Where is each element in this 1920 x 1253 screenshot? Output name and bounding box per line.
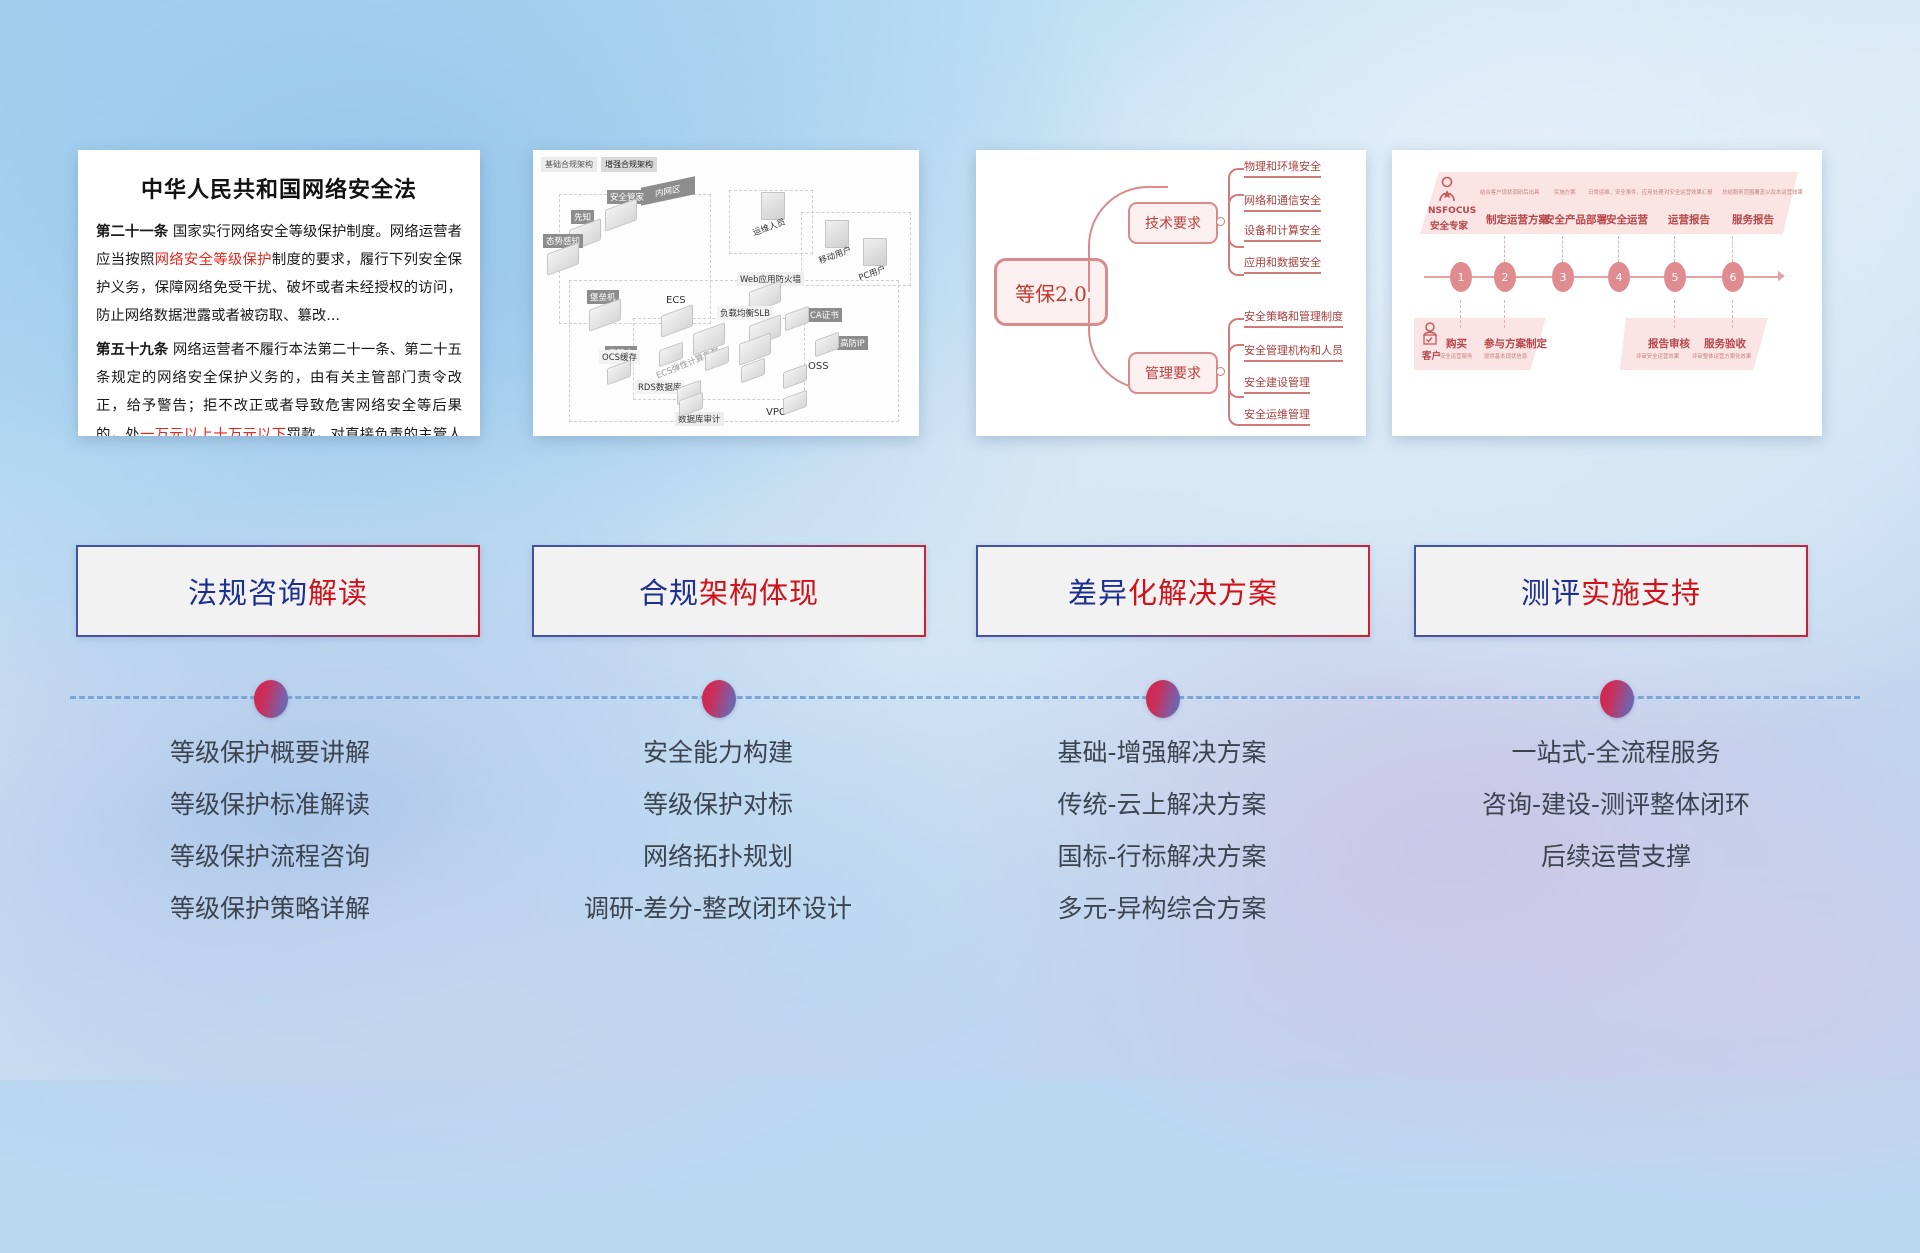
detail-column-4: 一站式-全流程服务 咨询-建设-测评整体闭环 后续运营支撑 bbox=[1406, 740, 1826, 896]
list-item: 一站式-全流程服务 bbox=[1406, 740, 1826, 765]
article-21-highlight: 网络安全等级保护 bbox=[155, 252, 272, 268]
detail-list-row: 等级保护概要讲解 等级保护标准解读 等级保护流程咨询 等级保护策略详解 安全能力… bbox=[0, 740, 1920, 980]
law-card-body: 第二十一条 国家实行网络安全等级保护制度。网络运营者应当按照网络安全等级保护制度… bbox=[78, 218, 480, 436]
timeline bbox=[0, 670, 1920, 730]
roadmap-step-5-sub: 对安全运营效果汇报 bbox=[1664, 188, 1713, 196]
roadmap-step-6-title: 服务报告 bbox=[1732, 212, 1774, 227]
roadmap-stem-6a bbox=[1732, 236, 1733, 262]
mindmap-leaf-m2: 安全管理机构和人员 bbox=[1244, 342, 1343, 362]
roadmap-stem-1 bbox=[1460, 300, 1461, 328]
roadmap-node-2: 2 bbox=[1494, 262, 1516, 292]
roadmap-step-4-sub: 日常运维、安全事件、应用处理 bbox=[1588, 188, 1663, 196]
architecture-tab-basic[interactable]: 基础合规架构 bbox=[541, 157, 597, 172]
list-item: 调研-差分-整改闭环设计 bbox=[508, 896, 928, 921]
roadmap-customer-step-2-title: 参与方案制定 bbox=[1484, 336, 1547, 351]
roadmap-step-4-title: 安全运营 bbox=[1606, 212, 1648, 227]
mindmap-leaf-t1: 物理和环境安全 bbox=[1244, 158, 1321, 178]
image-card-row: 中华人民共和国网络安全法 第二十一条 国家实行网络安全等级保护制度。网络运营者应… bbox=[0, 150, 1920, 440]
roadmap-card: NSFOCUS 安全专家 结合客户现状调研后出具 制定运营方案 实施方案 安全产… bbox=[1392, 150, 1822, 436]
roadmap-node-1: 1 bbox=[1450, 262, 1472, 292]
timeline-dot-2[interactable] bbox=[702, 680, 736, 718]
list-item: 等级保护流程咨询 bbox=[60, 844, 480, 869]
mindmap-leaf-t2: 网络和通信安全 bbox=[1244, 192, 1321, 212]
roadmap-step-3-title: 安全产品部署 bbox=[1544, 212, 1607, 227]
roadmap-axis-arrow-icon bbox=[1778, 271, 1785, 281]
roadmap-node-4: 4 bbox=[1608, 262, 1630, 292]
detail-column-2: 安全能力构建 等级保护对标 网络拓扑规划 调研-差分-整改闭环设计 bbox=[508, 740, 928, 948]
list-item: 后续运营支撑 bbox=[1406, 844, 1826, 869]
roadmap-step-2-sub: 结合客户现状调研后出具 bbox=[1480, 188, 1539, 196]
list-item: 等级保护对标 bbox=[508, 792, 928, 817]
architecture-tab-enhanced[interactable]: 增强合规架构 bbox=[601, 157, 657, 172]
law-article-59: 第五十九条 网络运营者不履行本法第二十一条、第二十五条规定的网络安全保护义务的，… bbox=[96, 336, 462, 436]
mindmap-connector-m4 bbox=[1228, 370, 1244, 426]
detail-column-3: 基础-增强解决方案 传统-云上解决方案 国标-行标解决方案 多元-异构综合方案 bbox=[952, 740, 1372, 948]
headline-box-1[interactable]: 法规咨询解读 bbox=[76, 545, 480, 637]
mindmap-diagram: 等保2.0 技术要求 管理要求 物理和环境安全 网络和通信安全 设备和计算安全 … bbox=[976, 150, 1366, 436]
list-item: 等级保护标准解读 bbox=[60, 792, 480, 817]
roadmap-customer-step-1-sub: 安全运营服务 bbox=[1440, 352, 1472, 360]
rm-stem-2b bbox=[1504, 300, 1505, 328]
list-item: 等级保护概要讲解 bbox=[60, 740, 480, 765]
headline-2-blue: 合规 bbox=[639, 576, 699, 610]
roadmap-step-2-title: 制定运营方案 bbox=[1486, 212, 1549, 227]
headline-2-red: 架构体现 bbox=[699, 576, 819, 610]
headline-box-2[interactable]: 合规架构体现 bbox=[532, 545, 926, 637]
roadmap-diagram: NSFOCUS 安全专家 结合客户现状调研后出具 制定运营方案 实施方案 安全产… bbox=[1392, 150, 1822, 436]
roadmap-stem-6b bbox=[1732, 300, 1733, 328]
list-item: 等级保护策略详解 bbox=[60, 896, 480, 921]
mindmap-connector-t4 bbox=[1228, 220, 1244, 276]
mindmap-leaf-m3: 安全建设管理 bbox=[1244, 374, 1310, 394]
headline-text-4: 测评实施支持 bbox=[1521, 570, 1701, 612]
timeline-dot-1[interactable] bbox=[254, 680, 288, 718]
roadmap-node-6: 6 bbox=[1722, 262, 1744, 292]
list-item: 咨询-建设-测评整体闭环 bbox=[1406, 792, 1826, 817]
roadmap-customer-step-2-sub: 提供基本现状信息 bbox=[1484, 352, 1527, 360]
headline-4-blue: 测评 bbox=[1521, 576, 1581, 610]
roadmap-step-3-sub: 实施方案 bbox=[1554, 188, 1576, 196]
roadmap-customer-step-4-title: 服务验收 bbox=[1704, 336, 1746, 351]
roadmap-customer-step-3-title: 报告审核 bbox=[1648, 336, 1690, 351]
timeline-dashed-line bbox=[70, 696, 1860, 699]
mindmap-branch-technical: 技术要求 bbox=[1128, 202, 1218, 244]
headline-box-3[interactable]: 差异化解决方案 bbox=[976, 545, 1370, 637]
mindmap-branch-management: 管理要求 bbox=[1128, 352, 1218, 394]
mindmap-leaf-m4: 安全运维管理 bbox=[1244, 406, 1310, 426]
list-item: 安全能力构建 bbox=[508, 740, 928, 765]
law-card: 中华人民共和国网络安全法 第二十一条 国家实行网络安全等级保护制度。网络运营者应… bbox=[78, 150, 480, 436]
list-item: 国标-行标解决方案 bbox=[952, 844, 1372, 869]
mindmap-collapse-dot-technical[interactable] bbox=[1216, 217, 1225, 226]
roadmap-expert-label-line2: 安全专家 bbox=[1430, 218, 1468, 232]
roadmap-node-5: 5 bbox=[1664, 262, 1686, 292]
list-item: 基础-增强解决方案 bbox=[952, 740, 1372, 765]
headline-1-blue: 法规咨询 bbox=[188, 576, 308, 610]
headline-text-1: 法规咨询解读 bbox=[188, 570, 368, 612]
mindmap-leaf-t3: 设备和计算安全 bbox=[1244, 222, 1321, 242]
list-item: 多元-异构综合方案 bbox=[952, 896, 1372, 921]
roadmap-stem-5a bbox=[1674, 236, 1675, 262]
roadmap-expert-person-icon bbox=[1436, 176, 1458, 207]
article-59-highlight-1: 一万元以上十万元以下 bbox=[140, 427, 287, 436]
roadmap-step-5-title: 运营报告 bbox=[1668, 212, 1710, 227]
roadmap-stem-2a bbox=[1504, 236, 1505, 262]
mindmap-collapse-dot-management[interactable] bbox=[1216, 367, 1225, 376]
architecture-tabs: 基础合规架构 增强合规架构 bbox=[541, 157, 657, 172]
list-item: 传统-云上解决方案 bbox=[952, 792, 1372, 817]
roadmap-stem-3 bbox=[1562, 236, 1563, 262]
headline-text-2: 合规架构体现 bbox=[639, 570, 819, 612]
timeline-dot-3[interactable] bbox=[1146, 680, 1180, 718]
roadmap-customer-step-4-sub: 评审整体运营方案化效果 bbox=[1692, 352, 1751, 360]
roadmap-node-3: 3 bbox=[1552, 262, 1574, 292]
headline-1-red: 解读 bbox=[308, 576, 368, 610]
architecture-diagram: 基础合规架构 增强合规架构 内网区 安全管家 bbox=[533, 150, 919, 436]
architecture-card: 基础合规架构 增强合规架构 内网区 安全管家 bbox=[533, 150, 919, 436]
roadmap-expert-label-line1: NSFOCUS bbox=[1428, 206, 1476, 216]
mindmap-card: 等保2.0 技术要求 管理要求 物理和环境安全 网络和通信安全 设备和计算安全 … bbox=[976, 150, 1366, 436]
headline-3-red: 化解决方案 bbox=[1128, 576, 1278, 610]
headline-box-row: 法规咨询解读 合规架构体现 差异化解决方案 测评实施支持 bbox=[0, 545, 1920, 645]
mindmap-leaf-t4: 应用和数据安全 bbox=[1244, 254, 1321, 274]
detail-column-1: 等级保护概要讲解 等级保护标准解读 等级保护流程咨询 等级保护策略详解 bbox=[60, 740, 480, 948]
roadmap-step-6-sub: 总结服务范围覆盖以及本运营效果 bbox=[1722, 188, 1803, 196]
article-21-label: 第二十一条 bbox=[96, 224, 168, 240]
headline-text-3: 差异化解决方案 bbox=[1068, 570, 1278, 612]
headline-box-4[interactable]: 测评实施支持 bbox=[1414, 545, 1808, 637]
roadmap-stem-4 bbox=[1618, 236, 1619, 262]
roadmap-customer-person-icon bbox=[1420, 322, 1440, 351]
headline-4-red: 实施支持 bbox=[1581, 576, 1701, 610]
roadmap-customer-step-3-sub: 评审安全运营效果 bbox=[1636, 352, 1679, 360]
timeline-dot-4[interactable] bbox=[1600, 680, 1634, 718]
roadmap-customer-label: 客户 bbox=[1422, 348, 1441, 362]
roadmap-customer-step-1-title: 购买 bbox=[1446, 336, 1467, 351]
article-59-label: 第五十九条 bbox=[96, 342, 168, 358]
mindmap-leaf-m1: 安全策略和管理制度 bbox=[1244, 308, 1343, 328]
law-card-title: 中华人民共和国网络安全法 bbox=[78, 172, 480, 204]
roadmap-stem-5b bbox=[1674, 300, 1675, 328]
law-article-21: 第二十一条 国家实行网络安全等级保护制度。网络运营者应当按照网络安全等级保护制度… bbox=[96, 218, 462, 330]
headline-3-blue: 差异 bbox=[1068, 576, 1128, 610]
list-item: 网络拓扑规划 bbox=[508, 844, 928, 869]
